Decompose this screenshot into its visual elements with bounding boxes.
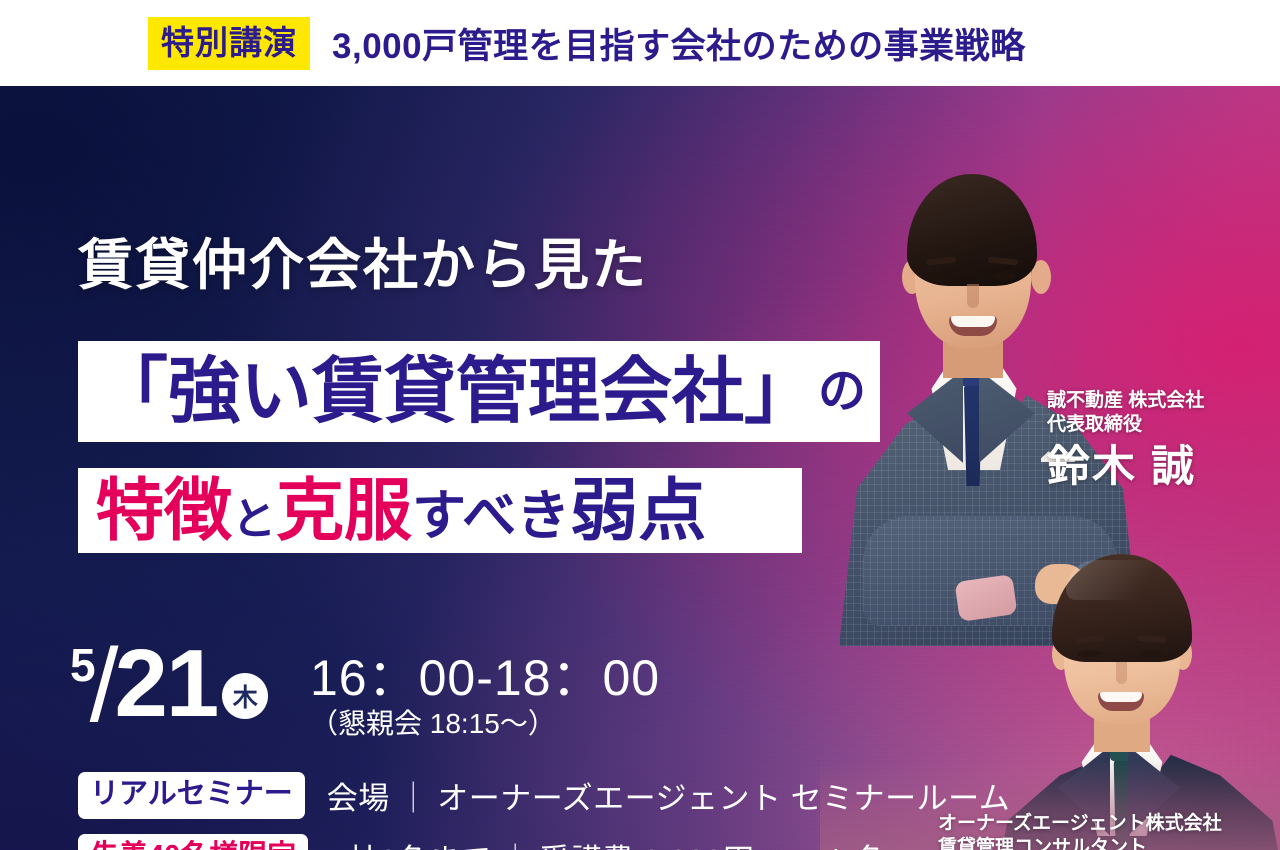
- event-date: 5 / 21 木: [70, 638, 268, 723]
- title-line-2-suffix: の: [818, 368, 866, 416]
- title-line-3-part-3: 克服: [276, 473, 412, 549]
- venue-value: オーナーズエージェント セミナールーム: [437, 781, 1010, 816]
- title-line-3-part-1: 特徴: [96, 473, 232, 549]
- fee-per-person: /1名: [828, 843, 886, 850]
- hero-artboard: 賃貸仲介会社から見た 「強い賃貸管理会社」 の 特徴と克服すべき弱点 5 / 2…: [0, 86, 1280, 850]
- speaker-caption-hagiwara: オーナーズエージェント株式会社 賃貸管理コンサルタント 萩原 耕平: [938, 812, 1222, 850]
- date-slash: /: [90, 644, 119, 729]
- speaker-caption-suzuki: 誠不動産 株式会社 代表取締役 鈴木 誠: [1047, 389, 1204, 491]
- title-line-1: 賃貸仲介会社から見た: [78, 238, 648, 293]
- speaker-2-role: 賃貸管理コンサルタント: [938, 836, 1222, 850]
- title-line-3-part-5: 弱点: [570, 473, 706, 549]
- venue-text: 会場｜オーナーズエージェント セミナールーム: [327, 773, 1011, 818]
- speaker-1-role: 代表取締役: [1047, 413, 1204, 437]
- title-line-2-main: 「強い賃貸管理会社」: [96, 356, 816, 428]
- title-line-3-box: 特徴と克服すべき弱点: [78, 468, 802, 553]
- capacity-badge: 先着40名様限定: [78, 834, 308, 850]
- venue-separator: ｜: [398, 781, 430, 816]
- speaker-2-org: オーナーズエージェント株式会社: [938, 812, 1222, 836]
- event-time: 16：00-18：00 （懇親会 18:15〜）: [310, 652, 660, 740]
- info-row-venue: リアルセミナー 会場｜オーナーズエージェント セミナールーム: [78, 772, 1010, 819]
- date-day: 21: [115, 645, 218, 724]
- fee-value: 受講費 3,300円: [539, 843, 754, 850]
- seminar-banner: 特別講演 3,000戸管理を目指す会社のための事業戦略: [0, 0, 1280, 850]
- info-row-capacity: 先着40名様限定 1社2名まで｜受講費 3,300円（税込）/1名: [78, 834, 887, 850]
- fee-text: 1社2名まで｜受講費 3,300円（税込）/1名: [330, 835, 887, 850]
- event-time-main: 16：00-18：00: [310, 652, 660, 705]
- header-strip: 特別講演 3,000戸管理を目指す会社のための事業戦略: [0, 0, 1280, 86]
- special-lecture-badge: 特別講演: [148, 17, 310, 70]
- header-subtitle: 3,000戸管理を目指す会社のための事業戦略: [332, 18, 1026, 69]
- speaker-1-name: 鈴木 誠: [1047, 444, 1204, 491]
- title-line-3: 特徴と克服すべき弱点: [96, 477, 706, 545]
- title-line-3-part-4: すべき: [412, 486, 570, 546]
- venue-label: 会場: [327, 781, 390, 816]
- title-line-3-part-2: と: [232, 495, 276, 544]
- fee-separator: ｜: [500, 843, 532, 850]
- seminar-type-badge: リアルセミナー: [78, 772, 305, 819]
- speaker-1-org: 誠不動産 株式会社: [1047, 389, 1204, 413]
- event-time-note: （懇親会 18:15〜）: [310, 707, 660, 741]
- attendee-limit-label: 1社2名まで: [330, 843, 491, 850]
- day-of-week-badge: 木: [222, 673, 268, 719]
- title-line-2-box: 「強い賃貸管理会社」 の: [78, 341, 880, 442]
